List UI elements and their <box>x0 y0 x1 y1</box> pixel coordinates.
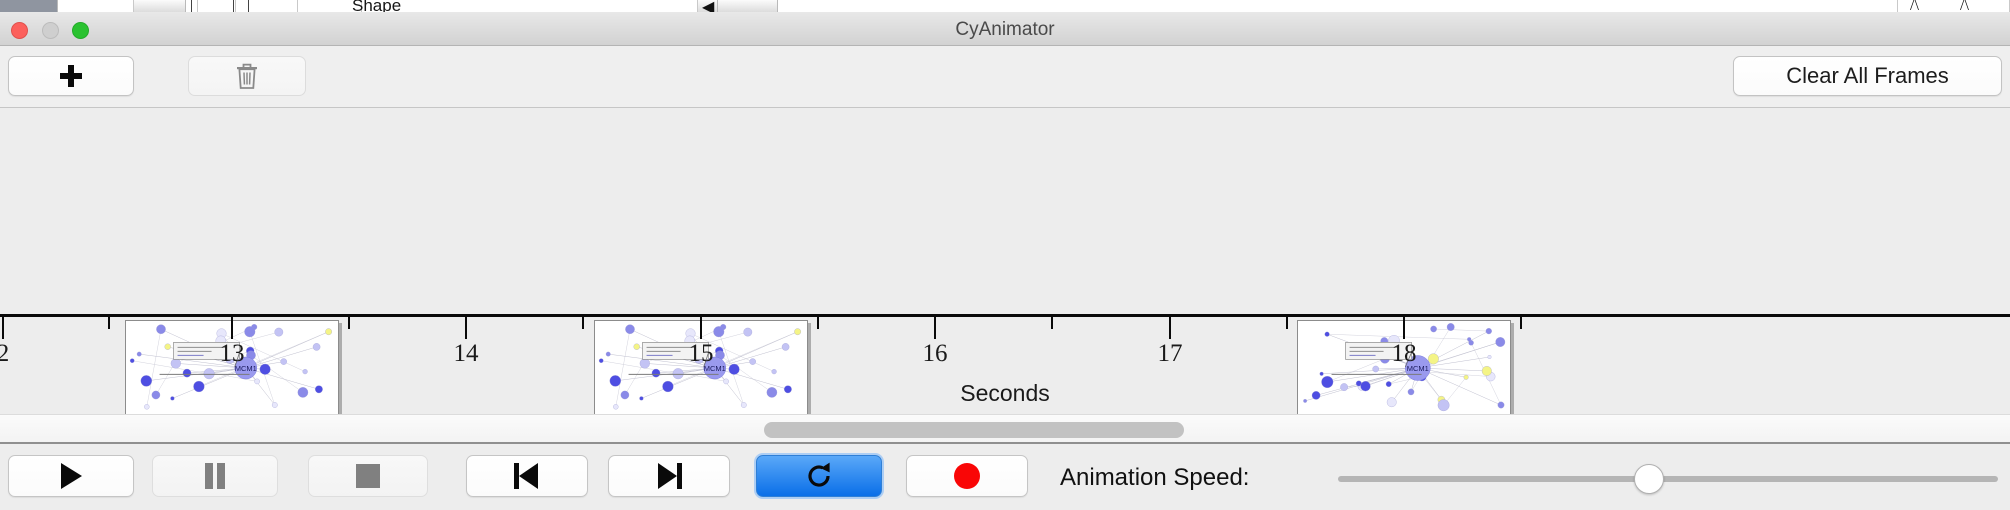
play-button[interactable] <box>8 455 134 497</box>
loop-icon <box>804 461 834 491</box>
cyanimator-window: | | | ◀ Shape /\ /\ CyAnimator <box>0 0 2010 510</box>
axis-tick <box>108 317 110 329</box>
skip-forward-icon <box>656 463 682 489</box>
record-button[interactable] <box>906 455 1028 497</box>
axis-tick <box>700 317 702 339</box>
animation-speed-slider-thumb[interactable] <box>1634 464 1664 494</box>
axis-tick <box>1169 317 1171 339</box>
axis-tick <box>1286 317 1288 329</box>
axis-tick <box>465 317 467 339</box>
timeline-panel[interactable]: MCM1MCM1MCM1 2131415161718 Seconds <box>0 108 2010 414</box>
stop-button[interactable] <box>308 455 428 497</box>
next-frame-button[interactable] <box>608 455 730 497</box>
plus-icon <box>60 65 82 87</box>
timeline-axis <box>0 314 2010 317</box>
axis-tick <box>1520 317 1522 329</box>
axis-tick <box>1403 317 1405 339</box>
axis-tick <box>1051 317 1053 329</box>
axis-tick <box>348 317 350 329</box>
trash-icon <box>236 63 258 89</box>
frame-track[interactable]: MCM1MCM1MCM1 <box>0 108 2010 312</box>
clear-all-frames-button[interactable]: Clear All Frames <box>1733 56 2002 96</box>
axis-tick <box>582 317 584 329</box>
background-window-label: Shape <box>352 0 401 12</box>
loop-button[interactable] <box>756 455 882 497</box>
axis-tick-label: 16 <box>923 340 948 368</box>
pause-icon <box>203 463 227 489</box>
axis-tick-label: 17 <box>1158 340 1183 368</box>
record-icon <box>954 463 980 489</box>
add-frame-button[interactable] <box>8 56 134 96</box>
skip-back-icon <box>514 463 540 489</box>
timeline-scrollbar[interactable] <box>0 414 2010 444</box>
stop-icon <box>356 464 380 488</box>
play-icon <box>61 463 82 489</box>
background-window-strip: | | | ◀ Shape /\ /\ <box>0 0 2010 12</box>
axis-tick-label: 18 <box>1392 340 1417 368</box>
clear-all-frames-label: Clear All Frames <box>1786 63 1949 89</box>
axis-tick <box>934 317 936 339</box>
delete-frame-button[interactable] <box>188 56 306 96</box>
animation-speed-label: Animation Speed: <box>1060 464 1249 492</box>
axis-tick-label: 15 <box>689 340 714 368</box>
scrollbar-thumb[interactable] <box>764 422 1184 438</box>
axis-tick <box>817 317 819 329</box>
axis-tick-label: 14 <box>454 340 479 368</box>
axis-tick-label: 2 <box>0 340 9 368</box>
frame-toolbar: Clear All Frames <box>0 46 2010 108</box>
animation-speed-slider[interactable] <box>1338 476 1998 482</box>
window-title: CyAnimator <box>0 19 2010 41</box>
axis-tick <box>231 317 233 339</box>
previous-frame-button[interactable] <box>466 455 588 497</box>
axis-tick <box>2 317 4 339</box>
axis-tick-label: 13 <box>220 340 245 368</box>
axis-title: Seconds <box>0 380 2010 407</box>
title-bar: CyAnimator <box>0 12 2010 46</box>
pause-button[interactable] <box>152 455 278 497</box>
